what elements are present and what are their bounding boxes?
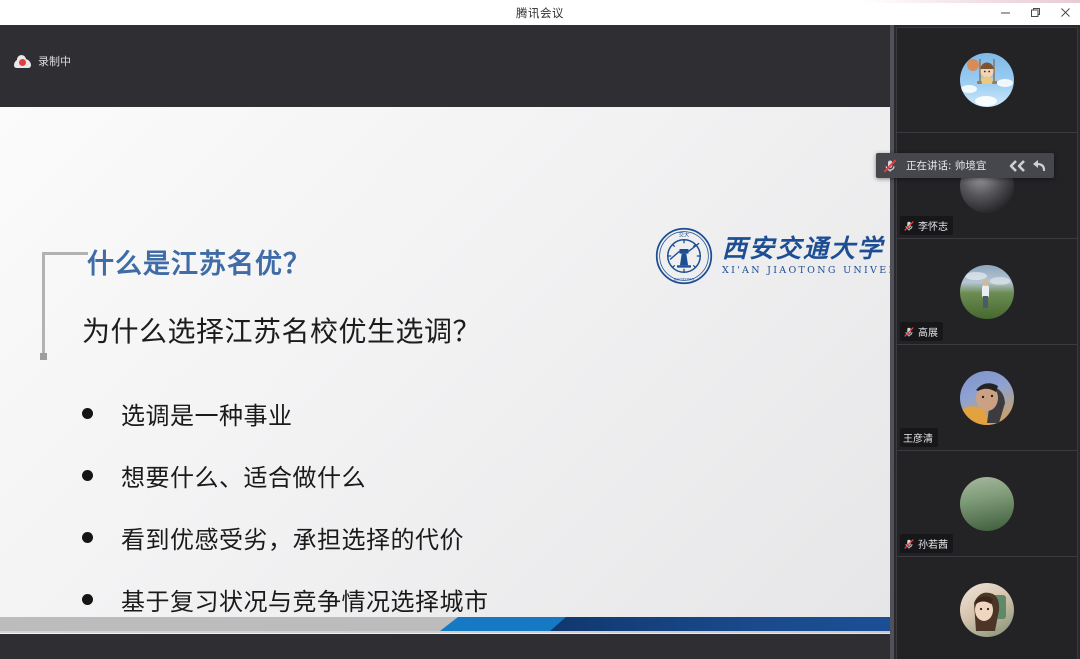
svg-text:JIAOTONG: JIAOTONG	[673, 277, 695, 281]
avatar	[960, 371, 1014, 425]
logo-english-name: XI'AN JIAOTONG UNIVERSITY	[722, 265, 890, 276]
meeting-body: 录制中 什么是江苏名优？ 为什么选择江苏名校优生选调？	[0, 25, 1080, 659]
stage-footer	[0, 634, 890, 659]
participant-name-chip: 王彦清	[900, 428, 938, 447]
title-bar: 腾讯会议	[0, 0, 1080, 25]
shared-content-stage: 录制中 什么是江苏名优？ 为什么选择江苏名校优生选调？	[0, 25, 890, 659]
list-item: 想要什么、适合做什么	[82, 444, 732, 506]
list-item: 看到优感受劣，承担选择的代价	[82, 506, 732, 568]
recording-indicator[interactable]: 录制中	[14, 53, 71, 69]
avatar	[960, 265, 1014, 319]
participant-tile[interactable]: 孙若茜	[896, 451, 1078, 557]
participant-name-chip: 高展	[900, 322, 943, 341]
bullet-dot-icon	[82, 408, 93, 419]
avatar	[960, 583, 1014, 637]
recording-label: 录制中	[38, 53, 71, 69]
participant-name-chip: 李怀志	[900, 216, 953, 235]
bullet-dot-icon	[82, 594, 93, 605]
participant-name: 孙若茜	[918, 536, 948, 551]
list-item: 选调是一种事业	[82, 382, 732, 444]
avatar	[960, 53, 1014, 107]
bullet-text: 看到优感受劣，承担选择的代价	[121, 520, 464, 555]
participant-name: 王彦清	[903, 430, 933, 445]
logo-chinese-name: 西安交通大学	[722, 236, 890, 262]
band-segment-gray	[0, 617, 470, 631]
participant-name: 李怀志	[918, 218, 948, 233]
participant-name-chip: 孙若茜	[900, 534, 953, 553]
participant-name: 高展	[918, 324, 938, 339]
mic-muted-icon	[903, 538, 915, 550]
mic-muted-icon	[882, 158, 898, 174]
bullet-dot-icon	[82, 470, 93, 481]
cloud-record-icon	[14, 55, 31, 68]
minimize-button[interactable]	[990, 0, 1020, 25]
close-button[interactable]	[1050, 0, 1080, 25]
tooltip-controls	[1007, 158, 1047, 174]
mic-muted-icon	[903, 220, 915, 232]
bullet-text: 选调是一种事业	[121, 396, 293, 431]
slide-footer-band	[0, 612, 890, 634]
participant-tile[interactable]	[896, 557, 1078, 659]
tencent-meeting-window: 腾讯会议	[0, 0, 1080, 659]
bullet-text: 想要什么、适合做什么	[121, 458, 366, 493]
collapse-chevrons-icon[interactable]	[1007, 158, 1027, 174]
participant-filmstrip[interactable]: 李怀志	[894, 25, 1080, 659]
band-segment-blue	[440, 617, 570, 631]
participant-tile-speaking[interactable]	[896, 27, 1078, 133]
slide-bullet-list: 选调是一种事业 想要什么、适合做什么 看到优感受劣，承担选择的代价 基	[82, 382, 732, 630]
speaking-tooltip-text: 正在讲话: 帅境宜	[906, 158, 1007, 173]
speaking-tooltip: 正在讲话: 帅境宜	[876, 153, 1054, 178]
window-title: 腾讯会议	[516, 5, 564, 21]
back-arrow-icon[interactable]	[1031, 158, 1047, 174]
band-shadow	[0, 631, 890, 633]
band-segment-navy	[550, 617, 890, 631]
avatar	[960, 477, 1014, 531]
window-controls	[990, 0, 1080, 25]
restore-button[interactable]	[1020, 0, 1050, 25]
slide-title: 什么是江苏名优？	[87, 242, 311, 281]
presentation-slide: 什么是江苏名优？ 为什么选择江苏名校优生选调？ 选调是一种事业 想要什么、适合做…	[0, 107, 890, 634]
slide-subtitle: 为什么选择江苏名校优生选调？	[82, 310, 481, 350]
recording-bar: 录制中	[0, 25, 890, 107]
participant-tile[interactable]: 高展	[896, 239, 1078, 345]
mic-muted-icon	[903, 326, 915, 338]
xjtu-seal-icon: 交大 JIAOTONG	[655, 227, 713, 285]
participant-tile[interactable]: 王彦清	[896, 345, 1078, 451]
university-logo: 交大 JIAOTONG 西安交通大学 XI'AN JIAOTONG UNIVER…	[655, 225, 887, 287]
participant-tile[interactable]: 李怀志	[896, 133, 1078, 239]
bullet-dot-icon	[82, 532, 93, 543]
